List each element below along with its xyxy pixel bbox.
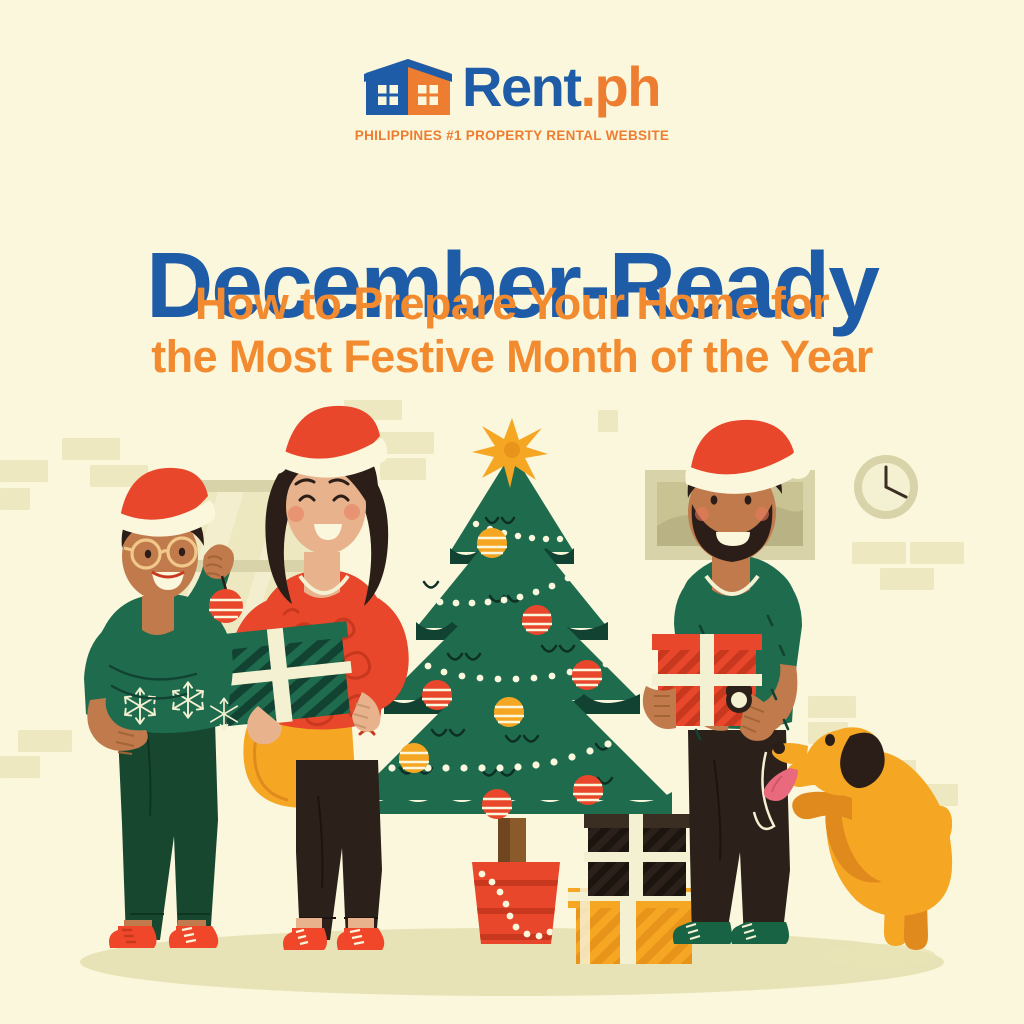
dog-nose [773,742,785,754]
shoe-right [169,926,218,948]
subtitle-line-2: the Most Festive Month of the Year [0,330,1024,383]
logo-name-primary: Rent [462,55,580,118]
christmas-family-illustration [0,400,1024,1024]
logo-name-dot: . [580,55,594,118]
wall-clock [854,455,918,519]
gift-box-dark [584,814,690,896]
logo-wordmark: Rent.ph [462,59,660,115]
subtitle-line-1: How to Prepare Your Home for [0,277,1024,330]
front-paw-lower [792,792,852,820]
brand-logo[interactable]: Rent.ph PHILIPPINES #1 PROPERTY RENTAL W… [0,56,1024,143]
logo-row: Rent.ph [364,56,660,118]
dog-eye [825,734,835,746]
house-logo-icon [364,57,452,117]
wristwatch [726,686,752,713]
logo-tagline: PHILIPPINES #1 PROPERTY RENTAL WEBSITE [0,128,1024,143]
poster-canvas: Rent.ph PHILIPPINES #1 PROPERTY RENTAL W… [0,0,1024,1024]
logo-name-suffix: ph [595,55,660,118]
page-subtitle: How to Prepare Your Home for the Most Fe… [0,277,1024,383]
tree-pot [470,862,564,944]
shoe-right [731,922,789,944]
